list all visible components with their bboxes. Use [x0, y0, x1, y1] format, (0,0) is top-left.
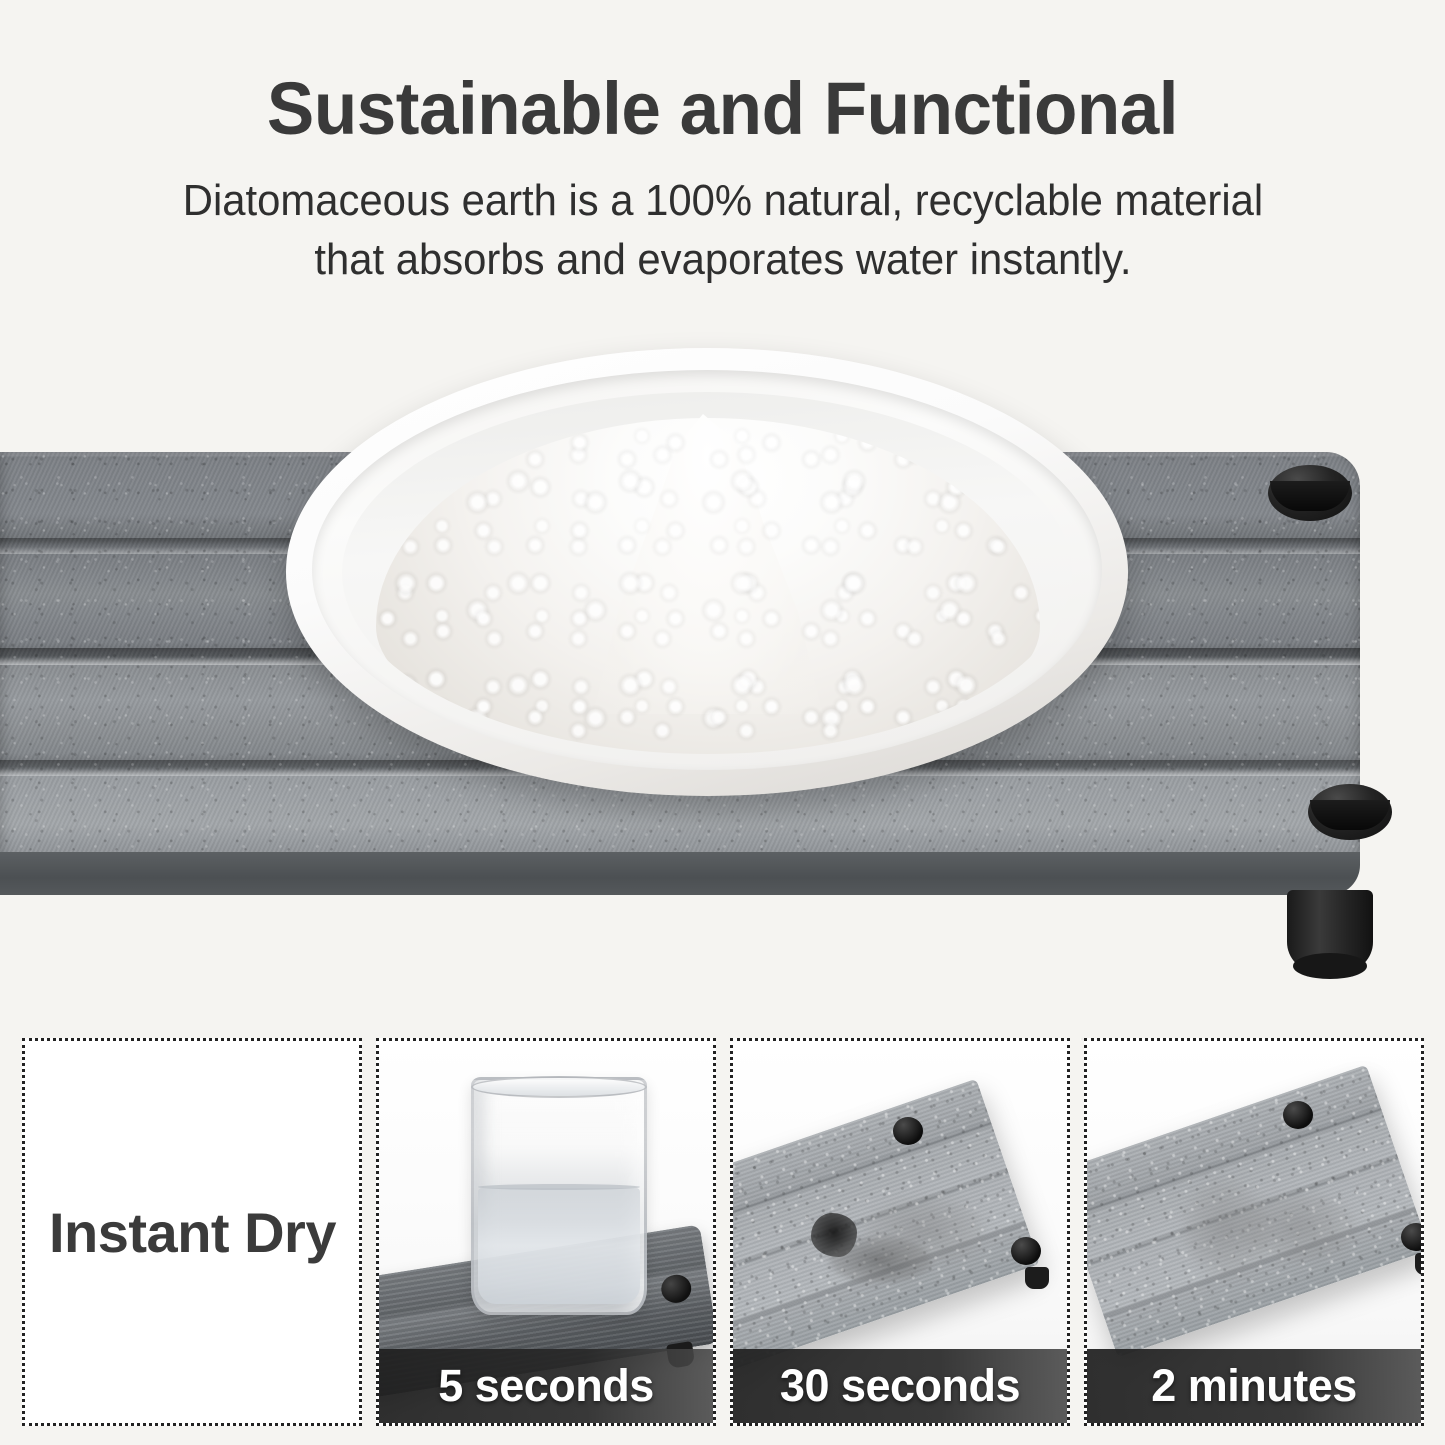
- hero-product-photo: [0, 300, 1445, 1000]
- instant-dry-label-panel: Instant Dry: [22, 1038, 362, 1426]
- comparison-panel-30-seconds: 30 seconds: [730, 1038, 1070, 1426]
- rubber-cap-icon: [1011, 1237, 1041, 1265]
- water-glass: [471, 1077, 647, 1315]
- drying-comparison-strip: Instant Dry 5 seconds: [22, 1038, 1424, 1426]
- comparison-panel-5-seconds: 5 seconds: [376, 1038, 716, 1426]
- board-leg: [1415, 1253, 1421, 1275]
- header: Sustainable and Functional Diatomaceous …: [0, 0, 1445, 289]
- panel-caption: 5 seconds: [379, 1349, 713, 1423]
- page-title: Sustainable and Functional: [29, 72, 1416, 146]
- bowl-interior: [342, 392, 1072, 754]
- infographic-page: Sustainable and Functional Diatomaceous …: [0, 0, 1445, 1445]
- rubber-cap-icon: [1268, 465, 1352, 521]
- rubber-cap-icon: [659, 1273, 693, 1305]
- panel-caption: 30 seconds: [733, 1349, 1067, 1423]
- glass-water-level: [478, 1188, 640, 1304]
- board-leg: [1287, 890, 1373, 972]
- rubber-cap-icon: [1308, 784, 1392, 840]
- instant-dry-label: Instant Dry: [25, 1200, 336, 1265]
- rubber-cap-icon: [893, 1117, 923, 1145]
- board-front-edge: [0, 852, 1360, 895]
- rubber-cap-icon: [1283, 1101, 1313, 1129]
- page-subtitle: Diatomaceous earth is a 100% natural, re…: [172, 172, 1274, 289]
- comparison-panel-2-minutes: 2 minutes: [1084, 1038, 1424, 1426]
- powder-bowl: [286, 348, 1128, 818]
- board-leg: [1025, 1267, 1049, 1289]
- panel-caption: 2 minutes: [1087, 1349, 1421, 1423]
- diatomaceous-earth-powder: [376, 418, 1040, 754]
